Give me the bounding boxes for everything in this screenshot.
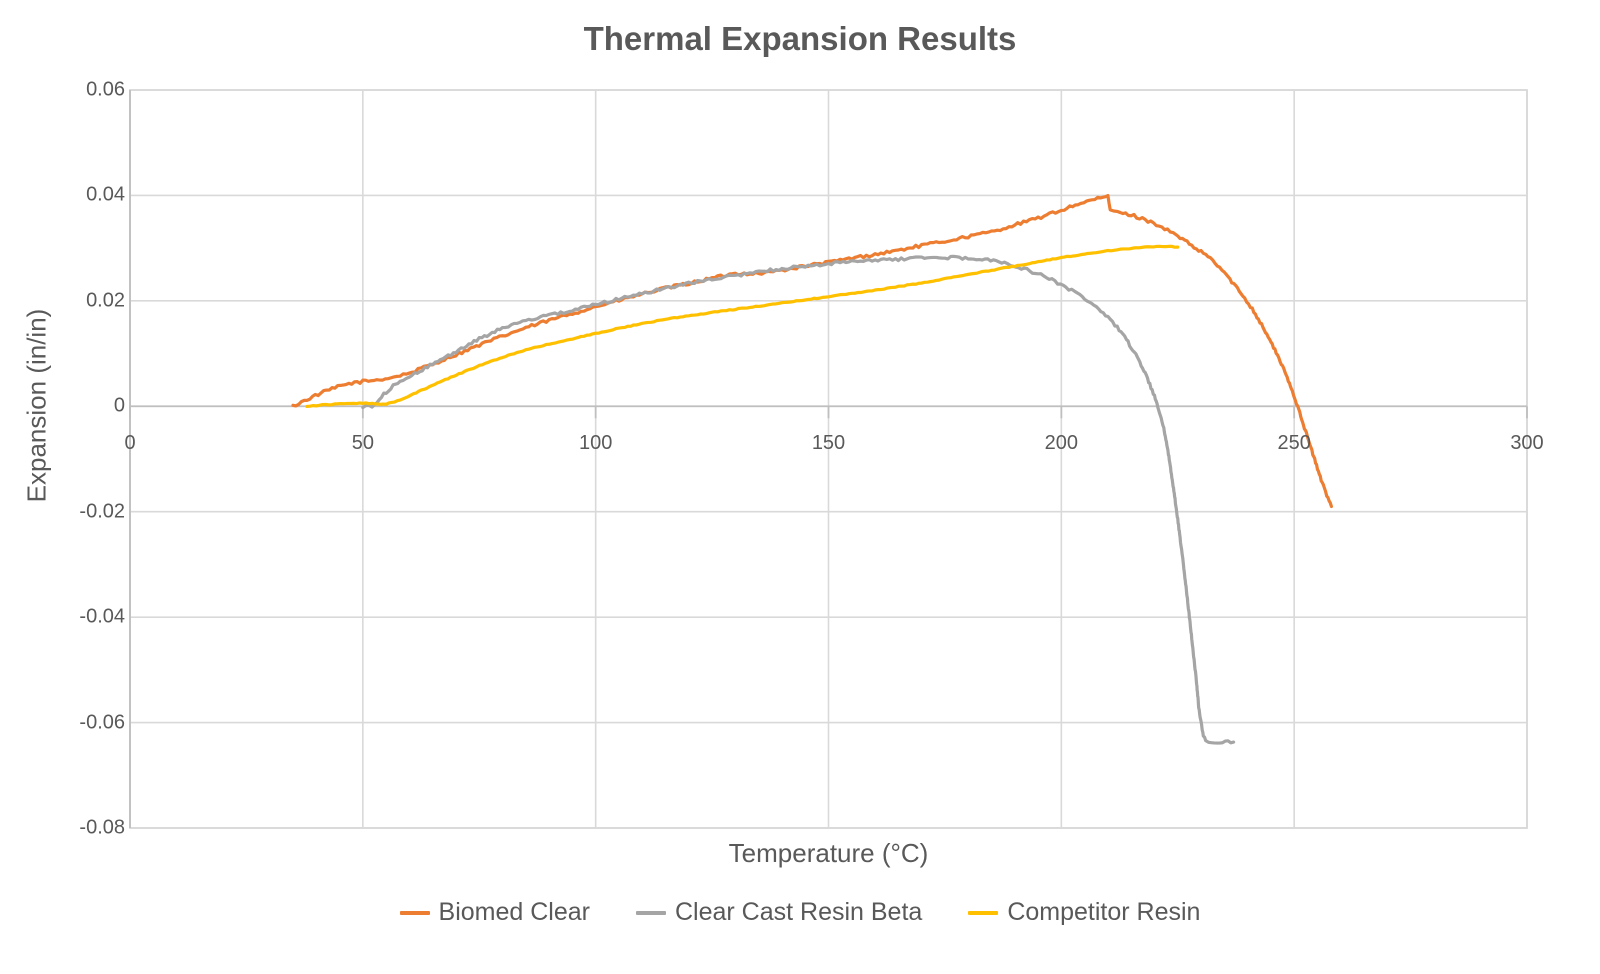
legend-item[interactable]: Competitor Resin [968,898,1200,927]
chart-container: Thermal Expansion Results Expansion (in/… [0,0,1600,974]
x-axis-tick-label: 50 [303,432,423,455]
legend-item-label: Competitor Resin [1007,898,1200,927]
legend-item[interactable]: Biomed Clear [400,898,590,927]
y-axis-tick-label: -0.08 [5,817,125,840]
x-axis-tick-label: 300 [1467,432,1587,455]
y-axis-tick-label: 0.06 [5,79,125,102]
y-axis-tick-label: 0 [5,395,125,418]
plot-svg [0,0,1600,974]
y-axis-tick-label: -0.04 [5,606,125,629]
plot-area-wrapper: Expansion (in/in) Temperature (°C) 0.060… [0,0,1600,974]
legend-line-icon [636,911,666,915]
chart-legend: Biomed ClearClear Cast Resin BetaCompeti… [0,898,1600,927]
legend-item[interactable]: Clear Cast Resin Beta [636,898,922,927]
x-axis-tick-label: 100 [536,432,656,455]
x-axis-tick-label: 0 [70,432,190,455]
legend-item-label: Biomed Clear [439,898,590,927]
y-axis-tick-label: 0.02 [5,289,125,312]
y-axis-tick-label: 0.04 [5,184,125,207]
x-axis-tick-label: 200 [1001,432,1121,455]
x-axis-tick-label: 150 [769,432,889,455]
y-axis-tick-label: -0.06 [5,711,125,734]
x-axis-title: Temperature (°C) [130,838,1527,869]
legend-line-icon [968,911,998,915]
legend-item-label: Clear Cast Resin Beta [675,898,922,927]
legend-line-icon [400,911,430,915]
x-axis-tick-label: 250 [1234,432,1354,455]
y-axis-tick-label: -0.02 [5,500,125,523]
